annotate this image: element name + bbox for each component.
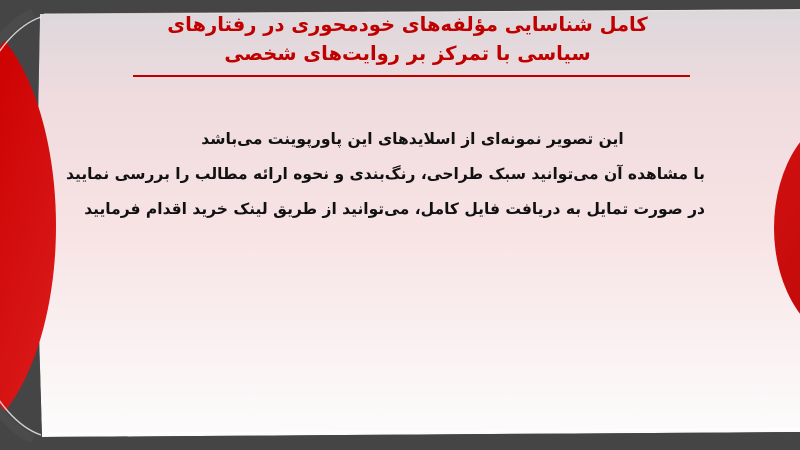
slide-canvas: کامل شناسایی مؤلفه‌های خودمحوری در رفتار…	[0, 0, 800, 450]
title-line-1: کامل شناسایی مؤلفه‌های خودمحوری در رفتار…	[120, 10, 695, 39]
slide-title: کامل شناسایی مؤلفه‌های خودمحوری در رفتار…	[120, 10, 695, 68]
slide-body: این تصویر نمونه‌ای از اسلایدهای این پاور…	[120, 122, 705, 227]
title-line-2: سیاسی با تمرکز بر روایت‌های شخصی	[120, 39, 695, 68]
body-line-1: این تصویر نمونه‌ای از اسلایدهای این پاور…	[120, 122, 705, 157]
title-underline-rule	[133, 75, 690, 77]
body-line-3: در صورت تمایل به دریافت فایل کامل، می‌تو…	[120, 192, 705, 227]
body-line-2: با مشاهده آن می‌توانید سبک طراحی، رنگ‌بن…	[120, 157, 705, 192]
slide-content: کامل شناسایی مؤلفه‌های خودمحوری در رفتار…	[0, 0, 800, 450]
